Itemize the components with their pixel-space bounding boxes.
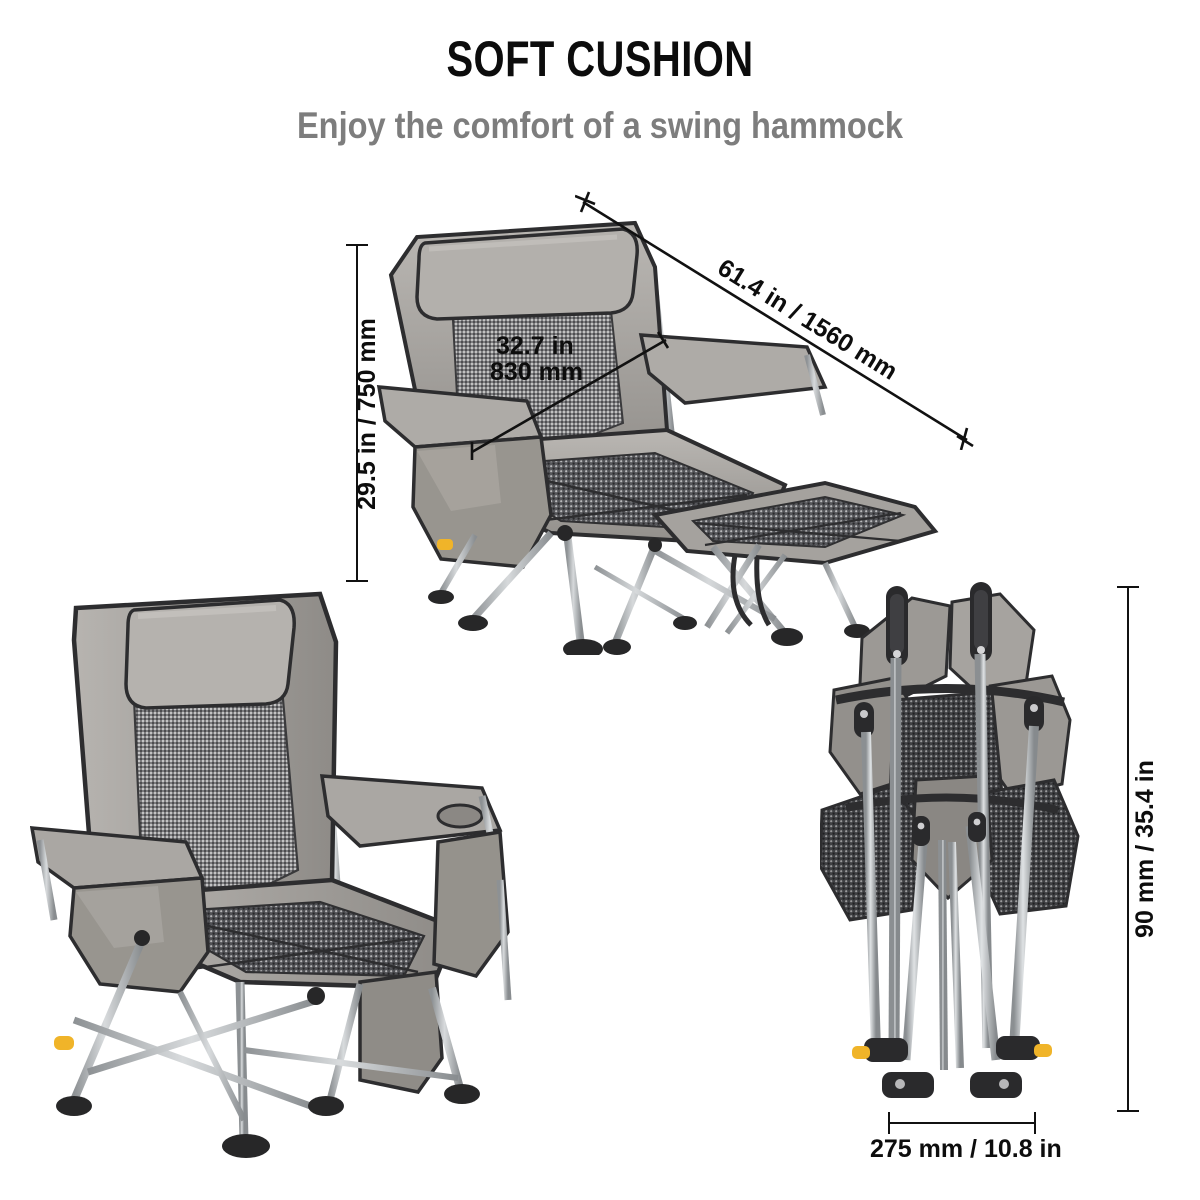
page-subtitle: Enjoy the comfort of a swing hammock	[72, 105, 1128, 147]
dimension-cap-folded-bottom	[1117, 1110, 1139, 1112]
dimension-label-folded-width: 275 mm / 10.8 in	[870, 1135, 1062, 1163]
dimension-label-reclined-height: 29.5 in / 750 mm	[353, 299, 381, 529]
dimension-line-reclined-length-group	[575, 190, 975, 450]
dimension-line-folded-height	[1127, 586, 1129, 1112]
dimension-label-folded-height: 90 mm / 35.4 in	[1131, 739, 1159, 959]
dimension-line-folded-width	[888, 1122, 1036, 1124]
dimension-cap-folded-left	[888, 1112, 890, 1134]
dimension-label-seat-line1: 32.7 in	[496, 332, 574, 360]
dimension-label-seat-line2: 830 mm	[490, 358, 583, 386]
upright-chair-illustration	[30, 580, 550, 1170]
page-title: SOFT CUSHION	[120, 30, 1080, 88]
dimension-cap-top	[346, 244, 368, 246]
infographic-canvas: SOFT CUSHION Enjoy the comfort of a swin…	[0, 0, 1200, 1200]
dimension-cap-folded-top	[1117, 586, 1139, 588]
dimension-cap-folded-right	[1034, 1112, 1036, 1134]
folded-chair-illustration	[820, 580, 1080, 1120]
